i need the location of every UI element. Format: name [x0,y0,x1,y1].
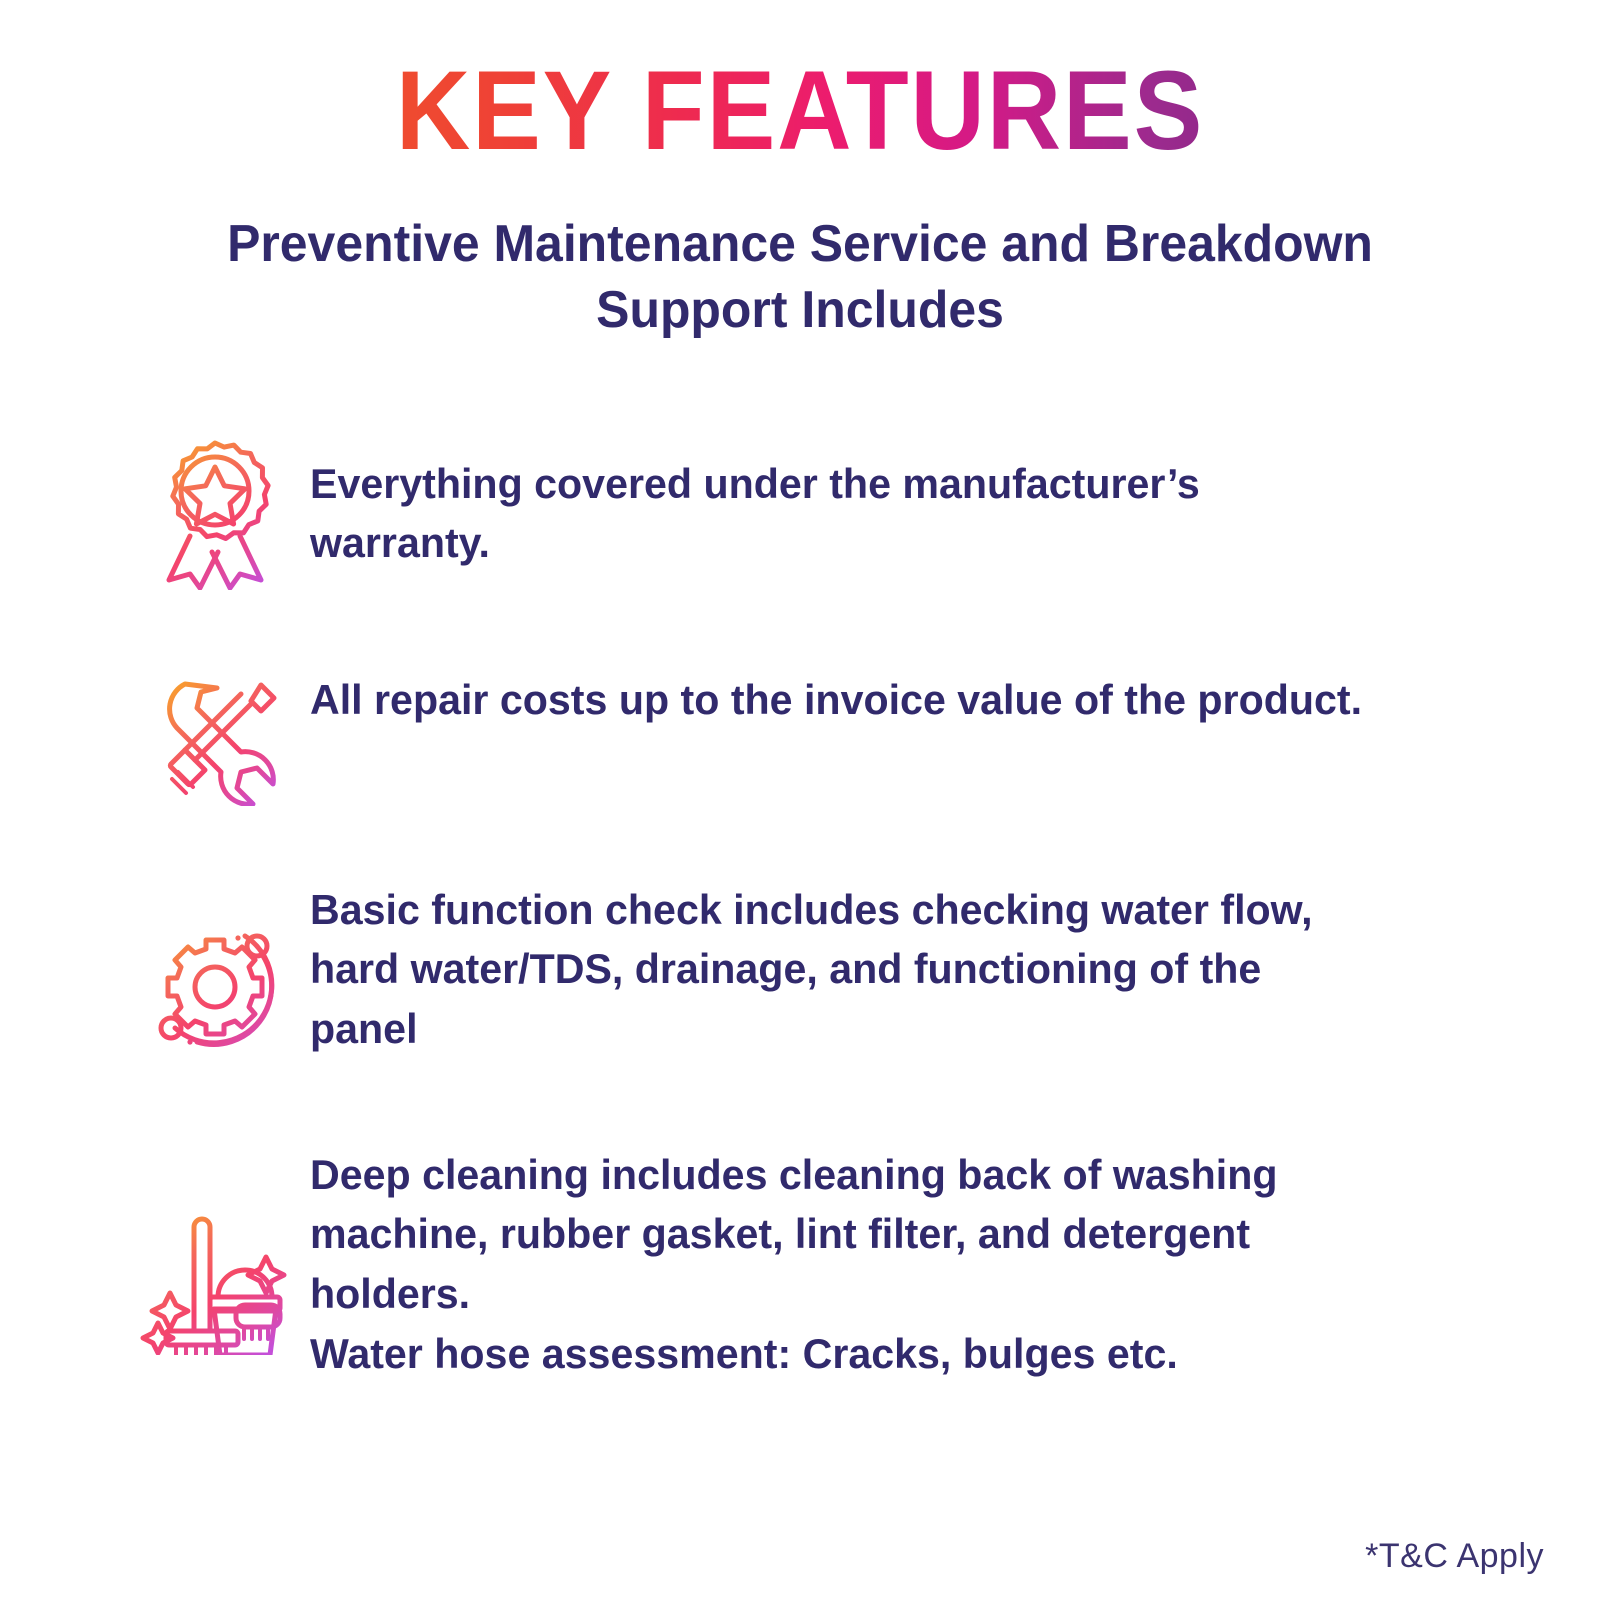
terms-disclaimer: *T&C Apply [1365,1537,1544,1576]
feature-item: Deep cleaning includes cleaning back of … [120,1145,1540,1384]
feature-text-line-2: Water hose assessment: Cracks, bulges et… [310,1324,1378,1384]
feature-text: All repair costs up to the invoice value… [310,664,1378,730]
feature-list: Everything covered under the manufacture… [0,440,1600,1383]
feature-text: Everything covered under the manufacture… [310,440,1378,573]
tools-wrench-screwdriver-icon [120,664,310,806]
feature-item: Basic function check includes checking w… [120,880,1540,1059]
broom-bucket-cleaning-icon [120,1145,310,1355]
feature-text: Basic function check includes checking w… [310,880,1378,1059]
page-title: KEY FEATURES [64,52,1536,171]
feature-item: All repair costs up to the invoice value… [120,664,1540,806]
award-badge-icon [120,440,310,590]
gear-settings-icon [120,880,310,1056]
feature-text: Deep cleaning includes cleaning back of … [310,1145,1378,1384]
header: KEY FEATURES Preventive Maintenance Serv… [0,0,1600,344]
subtitle-line-2: Support Includes [128,277,1472,344]
key-features-poster: KEY FEATURES Preventive Maintenance Serv… [0,0,1600,1600]
page-subtitle: Preventive Maintenance Service and Break… [128,211,1472,344]
feature-item: Everything covered under the manufacture… [120,440,1540,590]
feature-text-line-1: Deep cleaning includes cleaning back of … [310,1151,1278,1317]
subtitle-line-1: Preventive Maintenance Service and Break… [128,211,1472,278]
